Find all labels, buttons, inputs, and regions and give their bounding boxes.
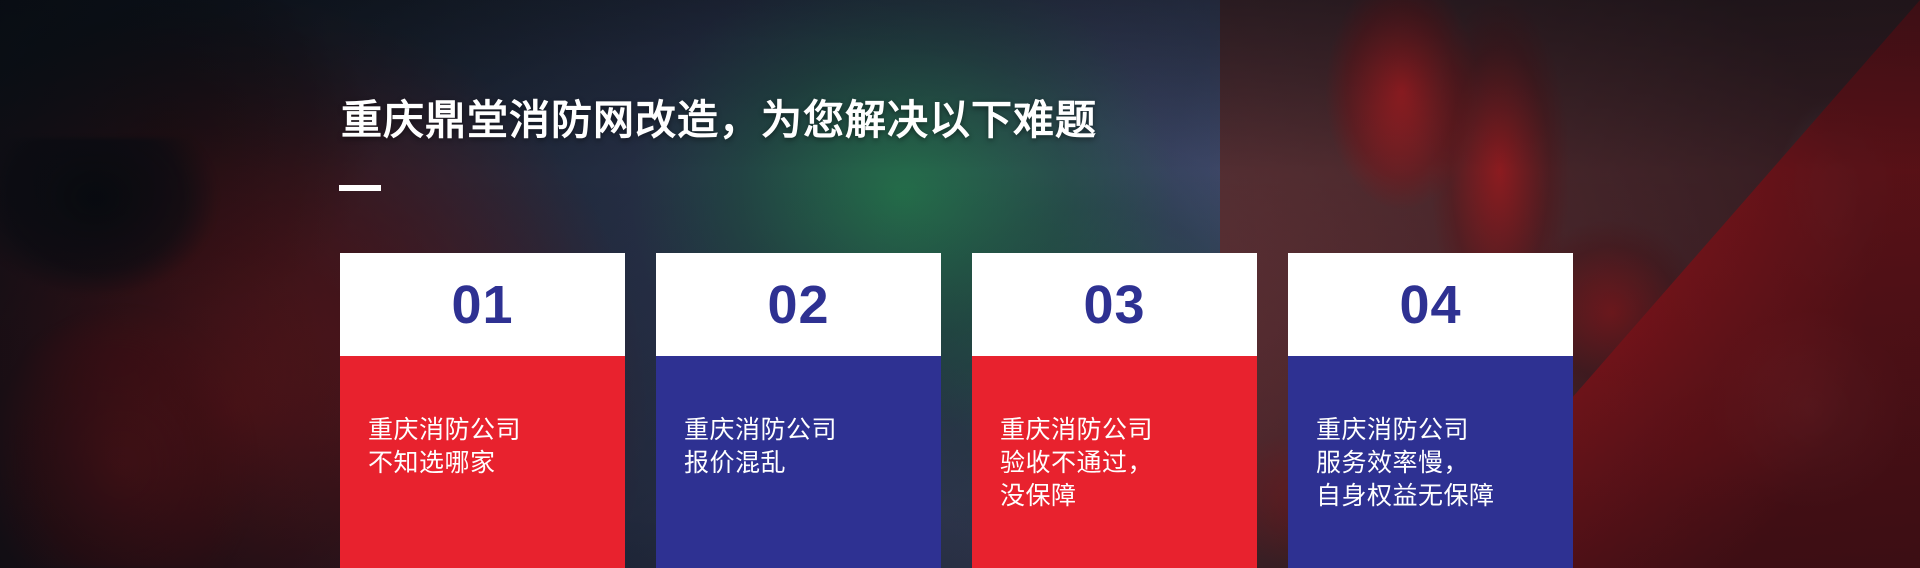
card-number-plate: 04 bbox=[1288, 253, 1573, 356]
card-number-plate: 03 bbox=[972, 253, 1257, 356]
card-body-text: 重庆消防公司 不知选哪家 bbox=[368, 414, 625, 480]
problem-card-list: 01 重庆消防公司 不知选哪家 02 重庆消防公司 报价混乱 03 bbox=[340, 253, 1580, 568]
card-body-text: 重庆消防公司 报价混乱 bbox=[684, 414, 941, 480]
card-number: 02 bbox=[767, 278, 829, 332]
problem-card-01: 01 重庆消防公司 不知选哪家 bbox=[340, 253, 625, 568]
problem-card-03: 03 重庆消防公司 验收不通过， 没保障 bbox=[972, 253, 1257, 568]
banner-headline: 重庆鼎堂消防网改造，为您解决以下难题 bbox=[341, 86, 1097, 146]
card-number-plate: 01 bbox=[340, 253, 625, 356]
card-body: 重庆消防公司 服务效率慢， 自身权益无保障 bbox=[1288, 356, 1573, 568]
card-number: 01 bbox=[451, 278, 513, 332]
card-number: 04 bbox=[1399, 278, 1461, 332]
card-body: 重庆消防公司 不知选哪家 bbox=[340, 356, 625, 568]
card-body-text: 重庆消防公司 验收不通过， 没保障 bbox=[1000, 414, 1257, 513]
card-number-plate: 02 bbox=[656, 253, 941, 356]
card-body: 重庆消防公司 验收不通过， 没保障 bbox=[972, 356, 1257, 568]
problem-card-02: 02 重庆消防公司 报价混乱 bbox=[656, 253, 941, 568]
headline-divider-dash bbox=[339, 185, 381, 191]
card-body-text: 重庆消防公司 服务效率慢， 自身权益无保障 bbox=[1316, 414, 1573, 513]
card-number: 03 bbox=[1083, 278, 1145, 332]
banner-content: 重庆鼎堂消防网改造，为您解决以下难题 01 重庆消防公司 不知选哪家 02 重庆… bbox=[0, 0, 1920, 568]
problem-card-04: 04 重庆消防公司 服务效率慢， 自身权益无保障 bbox=[1288, 253, 1573, 568]
card-body: 重庆消防公司 报价混乱 bbox=[656, 356, 941, 568]
promo-banner: 重庆鼎堂消防网改造，为您解决以下难题 01 重庆消防公司 不知选哪家 02 重庆… bbox=[0, 0, 1920, 568]
